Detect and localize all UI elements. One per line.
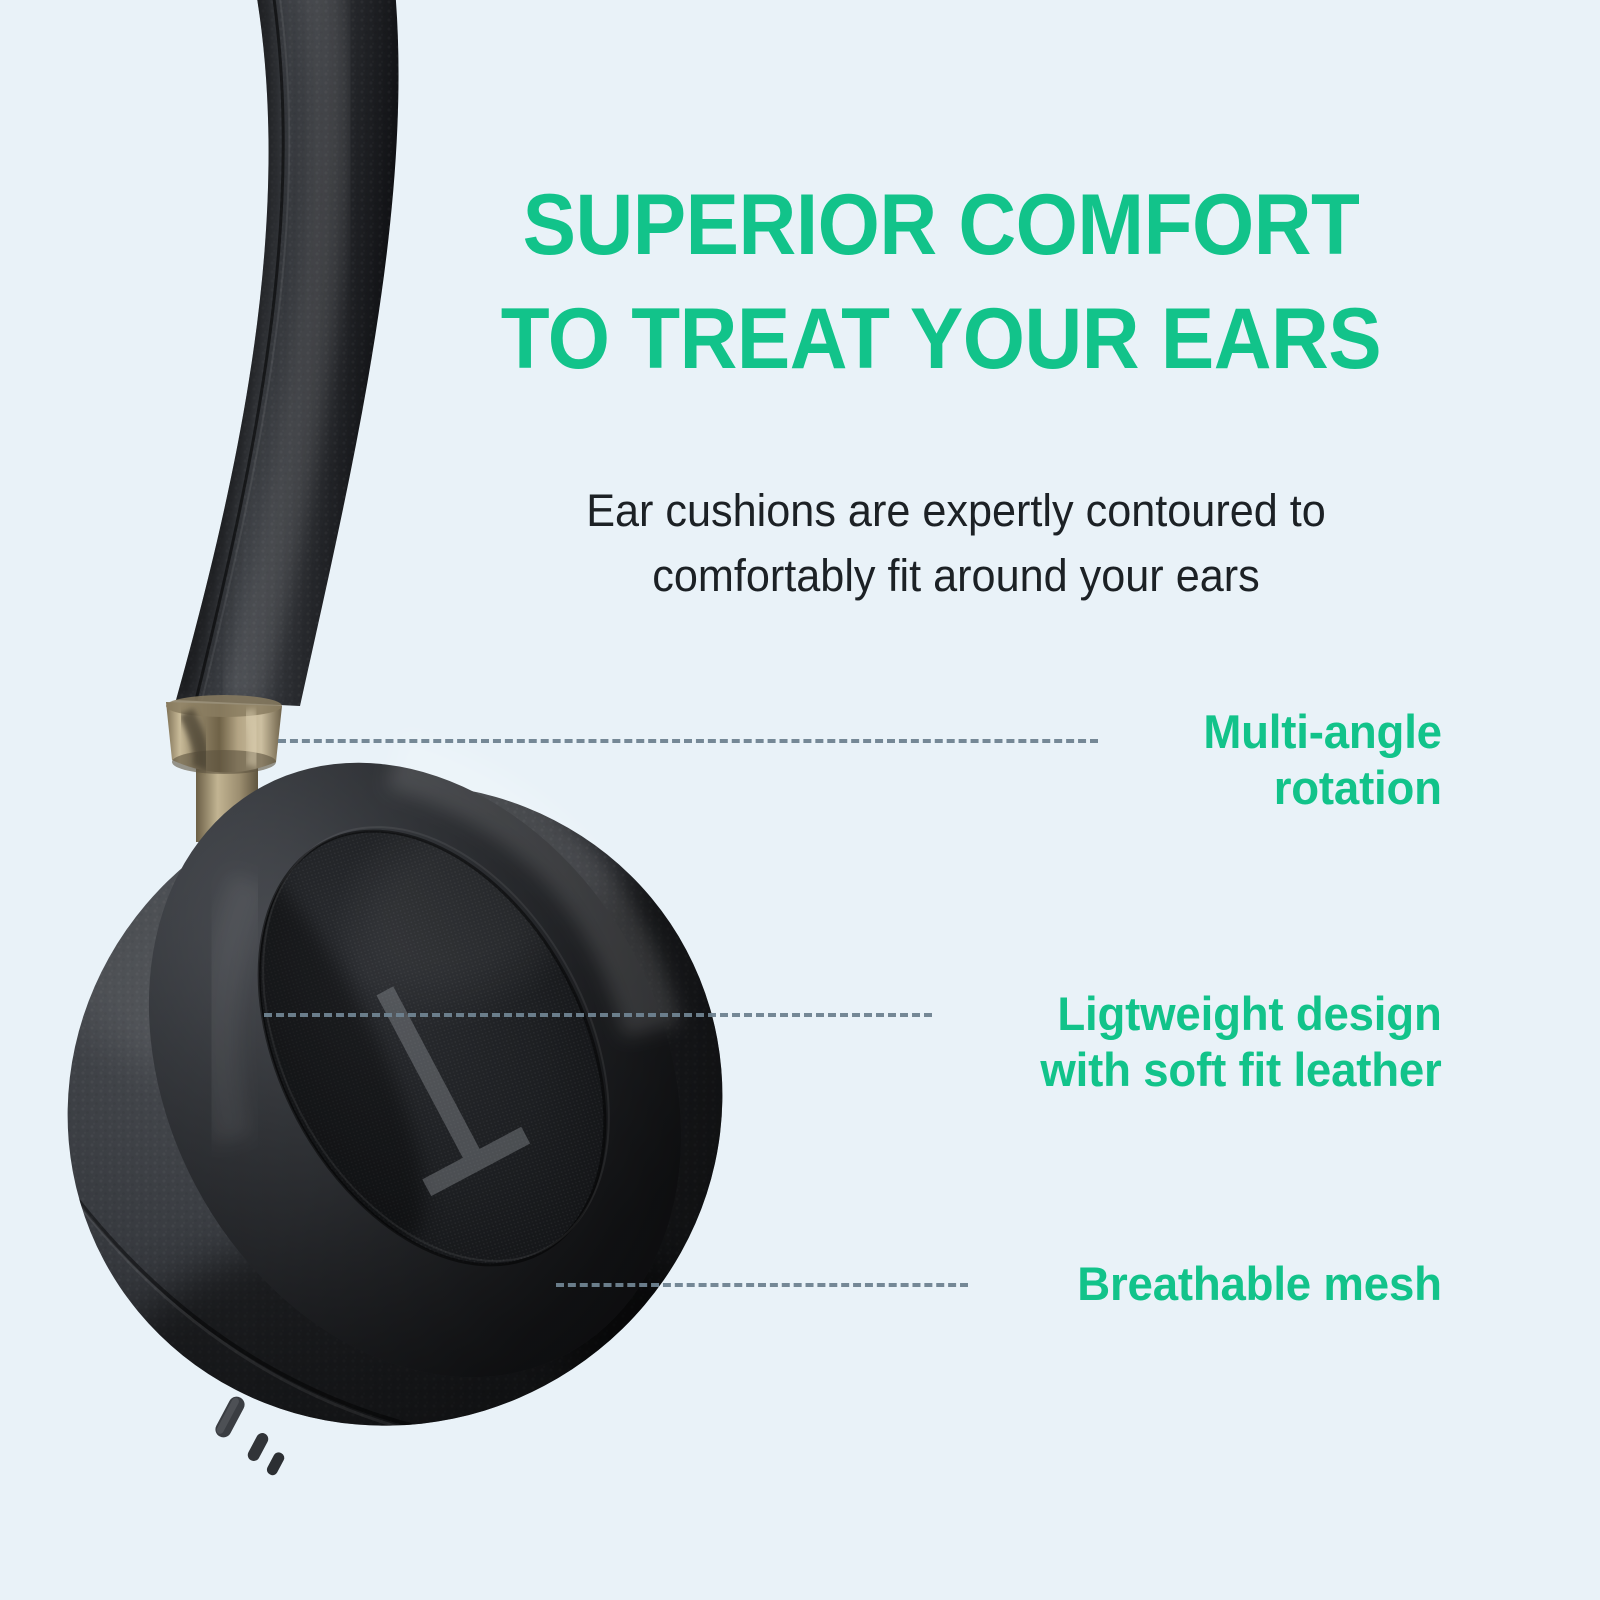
leader-line-breathable-mesh	[556, 1283, 968, 1287]
callout-1-line-1: Multi-angle	[1204, 704, 1442, 760]
callout-lightweight-design: Ligtweight design with soft fit leather	[1041, 986, 1442, 1099]
leader-line-lightweight-design	[264, 1013, 932, 1017]
callout-multi-angle-rotation: Multi-angle rotation	[1204, 704, 1442, 817]
subheading-line-2: comfortably fit around your ears	[489, 543, 1422, 608]
subheading: Ear cushions are expertly contoured to c…	[489, 478, 1422, 609]
subheading-line-1: Ear cushions are expertly contoured to	[489, 478, 1422, 543]
headline-line-1: SUPERIOR COMFORT	[475, 168, 1407, 282]
leader-line-multi-angle-rotation	[278, 739, 1098, 743]
channel-marking-L	[376, 986, 530, 1196]
callout-1-line-2: rotation	[1204, 760, 1442, 816]
hinge-assembly	[166, 695, 282, 842]
headline-line-2: TO TREAT YOUR EARS	[475, 282, 1407, 396]
ear-cup	[0, 665, 880, 1600]
control-buttons	[213, 1394, 286, 1477]
callout-2-line-2: with soft fit leather	[1041, 1042, 1442, 1098]
callout-2-line-1: Ligtweight design	[1041, 986, 1442, 1042]
headband	[100, 0, 500, 760]
callout-3-line-1: Breathable mesh	[1078, 1256, 1442, 1312]
page-title: SUPERIOR COMFORT TO TREAT YOUR EARS	[475, 168, 1407, 397]
product-feature-graphic: SUPERIOR COMFORT TO TREAT YOUR EARS Ear …	[0, 0, 1600, 1600]
callout-breathable-mesh: Breathable mesh	[1078, 1256, 1442, 1312]
